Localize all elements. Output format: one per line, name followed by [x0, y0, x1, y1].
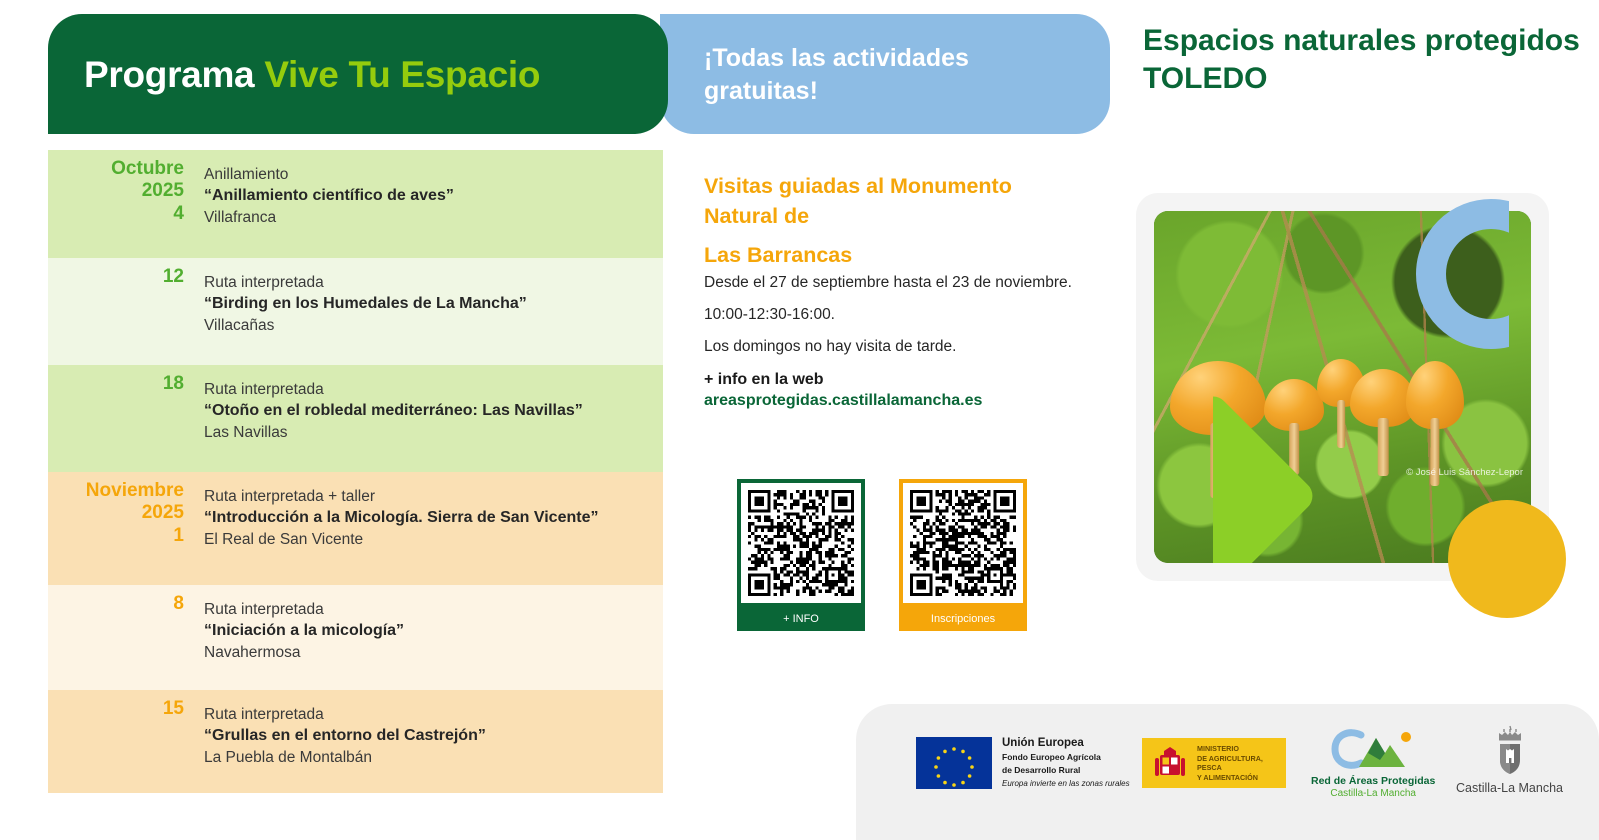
- schedule-row: 15 Ruta interpretada “Grullas en el ento…: [48, 690, 663, 793]
- schedule-row: Octubre 2025 4 Anillamiento “Anillamient…: [48, 150, 663, 258]
- eu-title: Unión Europea: [1002, 736, 1130, 750]
- region-name: Castilla-La Mancha: [1456, 781, 1563, 795]
- photo-credit: © José Luis Sánchez-Lepor: [1406, 467, 1523, 478]
- qr-more-info-frame: [737, 479, 865, 607]
- program-prefix: Programa: [84, 54, 264, 95]
- qr-more-info-image: [748, 490, 854, 596]
- clm-castle-crest-icon: [1487, 724, 1533, 776]
- schedule-list: Octubre 2025 4 Anillamiento “Anillamient…: [48, 150, 663, 793]
- ministry-line2: DE AGRICULTURA, PESCA: [1197, 754, 1286, 773]
- footer-logos-bar: Unión Europea Fondo Europeo Agrícola de …: [856, 704, 1599, 840]
- eu-italic: Europa invierte en las zonas rurales: [1002, 779, 1130, 789]
- activity-kind: Ruta interpretada: [204, 379, 651, 400]
- eu-flag-icon: [916, 737, 992, 789]
- activity-kind: Ruta interpretada + taller: [204, 486, 651, 507]
- schedule-day: 4: [48, 203, 184, 225]
- activity-place: Villacañas: [204, 315, 651, 336]
- schedule-date: 18: [48, 365, 195, 472]
- schedule-day: 12: [48, 266, 184, 288]
- activity-place: Las Navillas: [204, 422, 651, 443]
- guided-visits-heading-line1: Visitas guiadas al Monumento Natural de: [704, 174, 1012, 228]
- eu-stars-icon: [916, 737, 992, 789]
- schedule-date: 8: [48, 585, 195, 690]
- schedule-row: 18 Ruta interpretada “Otoño en el robled…: [48, 365, 663, 472]
- logo-castilla-la-mancha: Castilla-La Mancha: [1456, 724, 1563, 795]
- qr-more-info[interactable]: + INFO: [737, 479, 865, 631]
- activity-title: “Grullas en el entorno del Castrejón”: [204, 725, 651, 747]
- network-line2: Castilla-La Mancha: [1311, 788, 1435, 799]
- yellow-circle-decoration: [1448, 500, 1566, 618]
- ministry-line1: MINISTERIO: [1197, 744, 1286, 754]
- mushroom-icon: [1406, 361, 1464, 471]
- schedule-year: 2025: [48, 502, 184, 524]
- ministry-yellow-box: MINISTERIO DE AGRICULTURA, PESCA Y ALIME…: [1142, 738, 1286, 788]
- activity-kind: Ruta interpretada: [204, 704, 651, 725]
- guided-visits-block: Visitas guiadas al Monumento Natural de …: [704, 172, 1074, 422]
- logo-european-union: Unión Europea Fondo Europeo Agrícola de …: [916, 736, 1130, 789]
- schedule-row: 8 Ruta interpretada “Iniciación a la mic…: [48, 585, 663, 690]
- schedule-body: Ruta interpretada “Otoño en el robledal …: [195, 365, 663, 472]
- visit-times: 10:00-12:30-16:00.: [704, 305, 1074, 326]
- schedule-row: Noviembre 2025 1 Ruta interpretada + tal…: [48, 472, 663, 585]
- logo-protected-areas-network: Red de Áreas Protegidas Castilla-La Manc…: [1311, 726, 1435, 799]
- schedule-month: Noviembre: [48, 480, 184, 502]
- qr-registration-image: [910, 490, 1016, 596]
- activity-kind: Anillamiento: [204, 164, 651, 185]
- schedule-day: 1: [48, 525, 184, 547]
- eu-sub2: de Desarrollo Rural: [1002, 765, 1130, 776]
- qr-code-group: + INFO Inscripciones: [737, 479, 1027, 631]
- schedule-day: 8: [48, 593, 184, 615]
- schedule-date: 15: [48, 690, 195, 793]
- activity-kind: Ruta interpretada: [204, 599, 651, 620]
- activity-place: La Puebla de Montalbán: [204, 747, 651, 768]
- cm-mountain-icon: [1327, 726, 1419, 772]
- eu-sub1: Fondo Europeo Agrícola: [1002, 752, 1130, 763]
- activity-title: “Iniciación a la micología”: [204, 620, 651, 642]
- guided-visits-heading-line2: Las Barrancas: [704, 241, 1074, 271]
- free-activities-text: ¡Todas las actividades gratuitas!: [704, 42, 1084, 108]
- qr-more-info-label: + INFO: [737, 607, 865, 631]
- activity-title: “Otoño en el robledal mediterráneo: Las …: [204, 400, 651, 422]
- spain-coat-of-arms-icon: [1149, 742, 1191, 784]
- qr-registration[interactable]: Inscripciones: [899, 479, 1027, 631]
- logo-ministry: MINISTERIO DE AGRICULTURA, PESCA Y ALIME…: [1142, 738, 1286, 788]
- network-line1: Red de Áreas Protegidas: [1311, 775, 1435, 787]
- activity-title: “Introducción a la Micología. Sierra de …: [204, 507, 651, 529]
- activity-place: El Real de San Vicente: [204, 529, 651, 550]
- free-activities-banner: ¡Todas las actividades gratuitas!: [660, 14, 1110, 134]
- program-name: Vive Tu Espacio: [264, 54, 540, 95]
- program-banner: Programa Vive Tu Espacio: [48, 14, 668, 134]
- schedule-day: 18: [48, 373, 184, 395]
- qr-registration-frame: [899, 479, 1027, 607]
- schedule-body: Ruta interpretada “Birding en los Humeda…: [195, 258, 663, 365]
- schedule-date: 12: [48, 258, 195, 365]
- activity-place: Navahermosa: [204, 642, 651, 663]
- schedule-date: Octubre 2025 4: [48, 150, 195, 258]
- activity-place: Villafranca: [204, 207, 651, 228]
- schedule-day: 15: [48, 698, 184, 720]
- schedule-date: Noviembre 2025 1: [48, 472, 195, 585]
- schedule-body: Ruta interpretada “Grullas en el entorno…: [195, 690, 663, 793]
- poster-root: ¡Todas las actividades gratuitas! Progra…: [0, 0, 1599, 840]
- page-title: Espacios naturales protegidos TOLEDO: [1143, 22, 1583, 99]
- schedule-body: Anillamiento “Anillamiento científico de…: [195, 150, 663, 258]
- program-title: Programa Vive Tu Espacio: [84, 54, 540, 96]
- activity-title: “Anillamiento científico de aves”: [204, 185, 651, 207]
- visit-dates: Desde el 27 de septiembre hasta el 23 de…: [704, 273, 1074, 294]
- qr-registration-label: Inscripciones: [899, 607, 1027, 631]
- schedule-year: 2025: [48, 180, 184, 202]
- activity-title: “Birding en los Humedales de La Mancha”: [204, 293, 651, 315]
- ministry-line3: Y ALIMENTACIÓN: [1197, 773, 1286, 783]
- activity-kind: Ruta interpretada: [204, 272, 651, 293]
- schedule-month: Octubre: [48, 158, 184, 180]
- visit-note: Los domingos no hay visita de tarde.: [704, 337, 1074, 358]
- schedule-body: Ruta interpretada “Iniciación a la micol…: [195, 585, 663, 690]
- more-info-label: + info en la web: [704, 369, 1074, 391]
- ministry-text: MINISTERIO DE AGRICULTURA, PESCA Y ALIME…: [1197, 744, 1286, 782]
- eu-logo-text: Unión Europea Fondo Europeo Agrícola de …: [1002, 736, 1130, 789]
- schedule-body: Ruta interpretada + taller “Introducción…: [195, 472, 663, 585]
- guided-visits-heading: Visitas guiadas al Monumento Natural de …: [704, 172, 1074, 271]
- website-link[interactable]: areasprotegidas.castillalamancha.es: [704, 390, 1074, 412]
- schedule-row: 12 Ruta interpretada “Birding en los Hum…: [48, 258, 663, 365]
